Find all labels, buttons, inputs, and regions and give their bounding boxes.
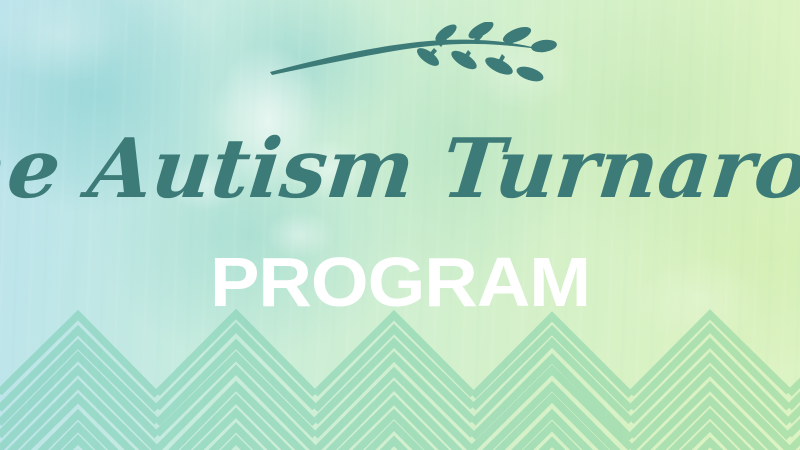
chevron-zigzag-pattern [0, 305, 800, 450]
script-headline: The Autism Turnaround [0, 119, 800, 229]
script-headline-text: The Autism Turnaround [0, 121, 800, 217]
program-word: PROGRAM [0, 250, 800, 314]
leafy-branch-icon [268, 22, 558, 88]
banner-graphic: The Autism Turnaround PROGRAM [0, 0, 800, 450]
script-headline-label: The Autism Turnaround [0, 121, 800, 217]
